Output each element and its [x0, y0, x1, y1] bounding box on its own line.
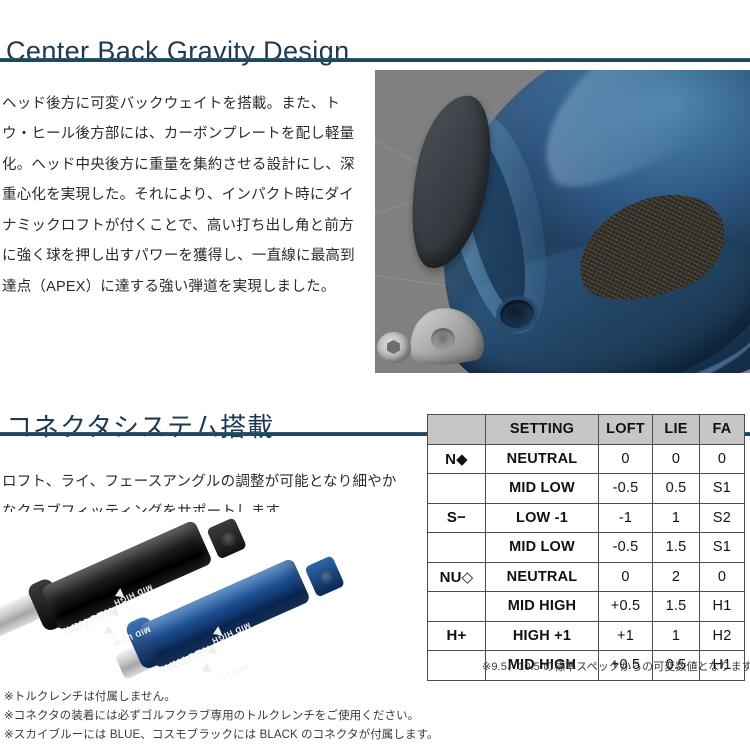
- cell-fa: S2: [700, 503, 745, 533]
- cell-mark: N◆: [428, 444, 486, 474]
- cell-fa: 0: [700, 444, 745, 474]
- product-detail-page: Center Back Gravity Design ヘッド後方に可変バックウェ…: [0, 0, 750, 750]
- cell-lie: 1: [653, 503, 700, 533]
- cell-setting: MID LOW: [486, 474, 599, 504]
- col-header-loft: LOFT: [599, 415, 653, 445]
- table-row: H+HIGH +1+11H2: [428, 621, 745, 651]
- triangle-marker-icon: [102, 625, 113, 637]
- footnote-item: ※トルクレンチは付属しません。: [4, 688, 444, 707]
- cell-setting: MID HIGH: [486, 592, 599, 622]
- cell-fa: 0: [700, 562, 745, 592]
- cell-fa: H2: [700, 621, 745, 651]
- cell-lie: 0: [653, 444, 700, 474]
- col-header-setting: SETTING: [486, 415, 599, 445]
- gravity-design-description: ヘッド後方に可変バックウェイトを搭載。また、トウ・ヒール後方部には、カーボンプレ…: [2, 89, 362, 303]
- footnote-list: ※トルクレンチは付属しません。 ※コネクタの装着には必ずゴルフクラブ専用のトルク…: [4, 688, 444, 745]
- cell-lie: 1.5: [653, 592, 700, 622]
- cell-mark: [428, 651, 486, 681]
- triangle-marker-icon: [200, 663, 211, 675]
- col-header-mark: [428, 415, 486, 445]
- back-weight-hole: [431, 328, 455, 350]
- page-title-gravity-design: Center Back Gravity Design: [6, 36, 350, 67]
- driver-head-render-image: [375, 70, 750, 373]
- cell-loft: 0: [599, 562, 653, 592]
- cell-loft: +1: [599, 621, 653, 651]
- col-header-lie: LIE: [653, 415, 700, 445]
- cell-fa: H1: [700, 592, 745, 622]
- cell-lie: 1: [653, 621, 700, 651]
- cell-mark: NU◇: [428, 562, 486, 592]
- sleeve-label-mid-low-blue: MID LOW: [210, 662, 250, 678]
- weight-screw: [377, 332, 411, 363]
- cell-mark: S−: [428, 503, 486, 533]
- cell-lie: 1.5: [653, 533, 700, 563]
- crown-highlight: [511, 70, 750, 211]
- cell-loft: -0.5: [599, 533, 653, 563]
- connector-setting-table: SETTING LOFT LIE FA N◆NEUTRAL000MID LOW-…: [427, 414, 745, 681]
- table-header-row: SETTING LOFT LIE FA: [428, 415, 745, 445]
- table-row: NU◇NEUTRAL020: [428, 562, 745, 592]
- footnote-item: ※スカイブルーには BLUE、コスモブラックには BLACK のコネクタが付属し…: [4, 726, 444, 745]
- cell-loft: -1: [599, 503, 653, 533]
- cell-loft: 0: [599, 444, 653, 474]
- heading-divider-1: [0, 58, 750, 62]
- cell-setting: LOW -1: [486, 503, 599, 533]
- cell-setting: NEUTRAL: [486, 562, 599, 592]
- table-row: MID LOW-0.51.5S1: [428, 533, 745, 563]
- cell-lie: 2: [653, 562, 700, 592]
- cell-setting: NEUTRAL: [486, 444, 599, 474]
- connector-bore-blue: [319, 570, 334, 585]
- spec-table-note: ※9.5、10.5 の標準スペックからの可変数値となります。: [482, 658, 750, 674]
- table-row: N◆NEUTRAL000: [428, 444, 745, 474]
- cell-loft: +0.5: [599, 592, 653, 622]
- cell-mark: H+: [428, 621, 486, 651]
- page-title-connector-system: コネクタシステム搭載: [6, 407, 274, 444]
- table-row: MID LOW-0.50.5S1: [428, 474, 745, 504]
- cell-setting: HIGH +1: [486, 621, 599, 651]
- footnote-item: ※コネクタの装着には必ずゴルフクラブ専用のトルクレンチをご使用ください。: [4, 707, 444, 726]
- table-row: S−LOW -1-11S2: [428, 503, 745, 533]
- cell-mark: [428, 474, 486, 504]
- connector-bore-black: [221, 532, 236, 547]
- cell-fa: S1: [700, 474, 745, 504]
- cell-fa: S1: [700, 533, 745, 563]
- connector-sleeves-image: MID HIGH NEUTRAL MID LOW N MID HIGH NEUT…: [0, 512, 415, 678]
- cell-loft: -0.5: [599, 474, 653, 504]
- table-row: MID HIGH+0.51.5H1: [428, 592, 745, 622]
- cell-setting: MID LOW: [486, 533, 599, 563]
- cell-lie: 0.5: [653, 474, 700, 504]
- cell-mark: [428, 592, 486, 622]
- col-header-fa: FA: [700, 415, 745, 445]
- cell-mark: [428, 533, 486, 563]
